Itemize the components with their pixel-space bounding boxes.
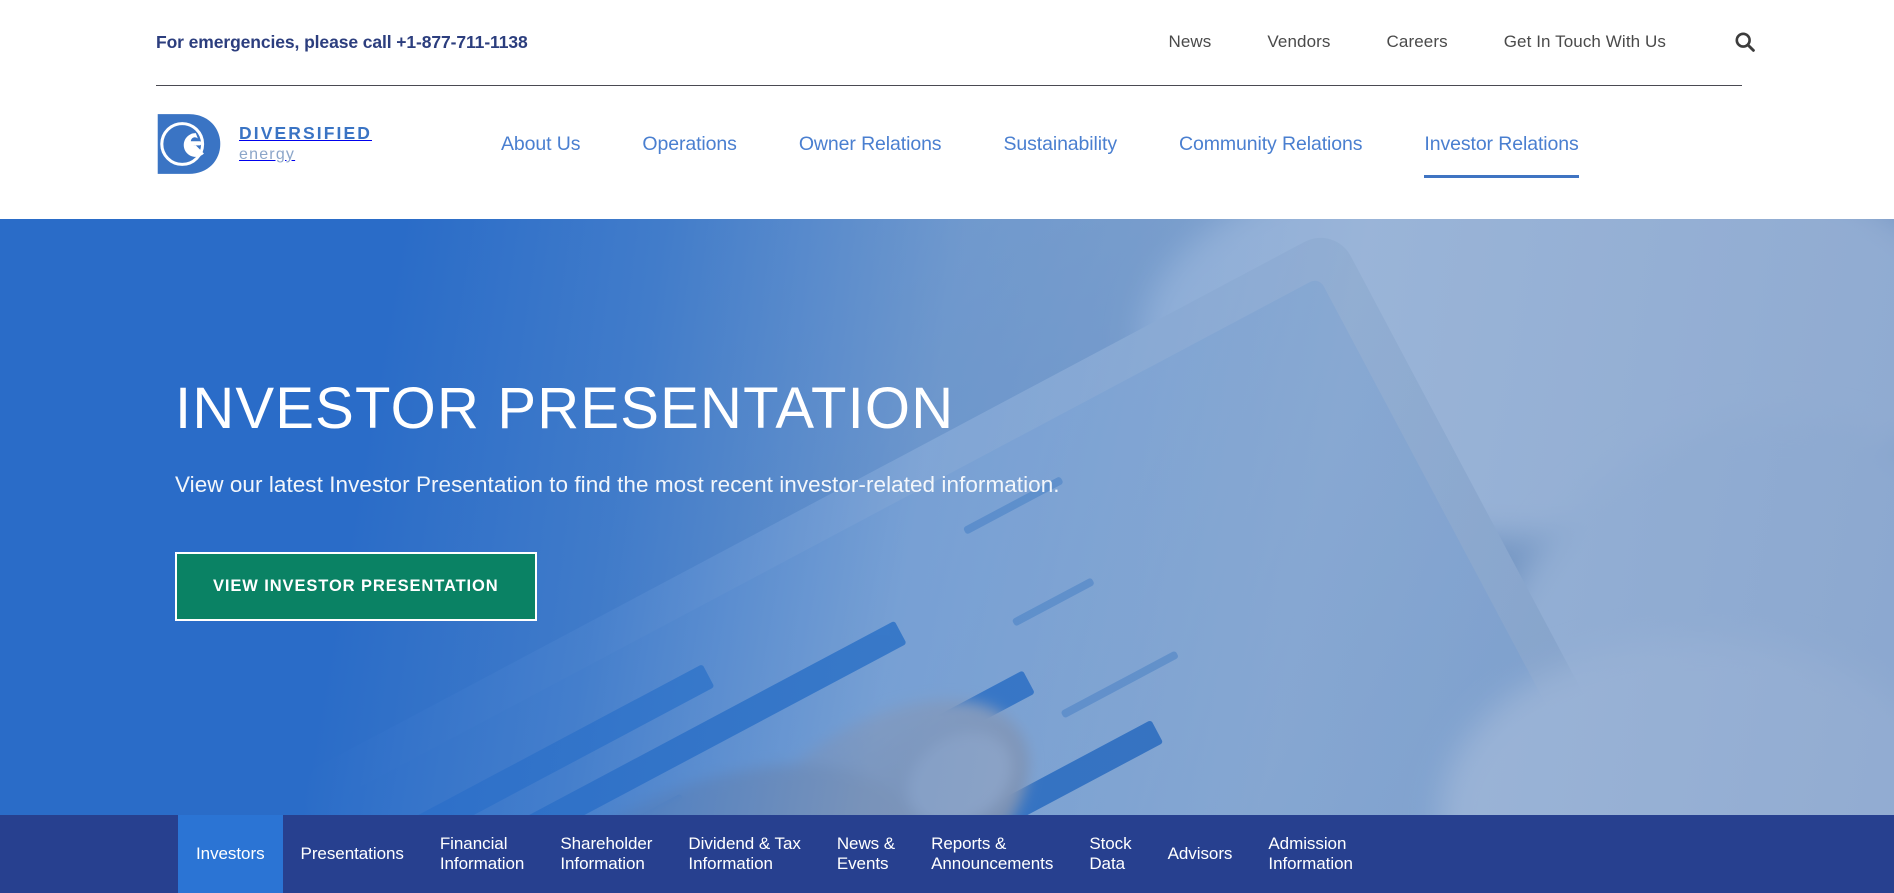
emergency-phone-text: For emergencies, please call +1-877-711-… — [156, 32, 528, 53]
utility-link-vendors[interactable]: Vendors — [1239, 32, 1358, 52]
logo-word-energy: energy — [239, 147, 372, 163]
subnav-tab-shareholder-information[interactable]: Shareholder Information — [542, 815, 670, 893]
subnav-tab-financial-information[interactable]: Financial Information — [422, 815, 543, 893]
logo-wordmark: DIVERSIFIED energy — [239, 125, 372, 163]
utility-link-news[interactable]: News — [1141, 32, 1240, 52]
investor-sub-nav: Investors Presentations Financial Inform… — [0, 815, 1894, 893]
subnav-tab-dividend-tax-information[interactable]: Dividend & Tax Information — [670, 815, 818, 893]
subnav-tab-presentations[interactable]: Presentations — [283, 815, 422, 893]
utility-nav: News Vendors Careers Get In Touch With U… — [1141, 32, 1695, 52]
logo-link[interactable]: DIVERSIFIED energy — [155, 110, 372, 178]
hero-title: INVESTOR PRESENTATION — [175, 379, 1060, 440]
subnav-left-spacer — [0, 815, 178, 893]
main-nav: About Us Operations Owner Relations Sust… — [470, 133, 1894, 156]
nav-item-owner-relations[interactable]: Owner Relations — [768, 133, 973, 156]
subnav-tab-stock-data[interactable]: Stock Data — [1071, 815, 1149, 893]
main-header: DIVERSIFIED energy About Us Operations O… — [0, 86, 1894, 219]
view-investor-presentation-button[interactable]: VIEW INVESTOR PRESENTATION — [175, 552, 537, 621]
subnav-tab-investors[interactable]: Investors — [178, 815, 283, 893]
nav-item-community-relations[interactable]: Community Relations — [1148, 133, 1393, 156]
nav-item-sustainability[interactable]: Sustainability — [972, 133, 1148, 156]
top-utility-bar: For emergencies, please call +1-877-711-… — [0, 0, 1894, 86]
hero-subtitle: View our latest Investor Presentation to… — [175, 472, 1060, 498]
nav-item-investor-relations[interactable]: Investor Relations — [1393, 133, 1609, 156]
hero-banner: INVESTOR PRESENTATION View our latest In… — [0, 219, 1894, 893]
nav-item-about-us[interactable]: About Us — [470, 133, 611, 156]
utility-link-careers[interactable]: Careers — [1359, 32, 1476, 52]
diversified-energy-logo-icon — [155, 110, 223, 178]
subnav-tab-news-events[interactable]: News & Events — [819, 815, 913, 893]
utility-link-get-in-touch[interactable]: Get In Touch With Us — [1476, 32, 1694, 52]
search-icon — [1733, 30, 1757, 54]
nav-item-operations[interactable]: Operations — [611, 133, 767, 156]
subnav-tab-reports-announcements[interactable]: Reports & Announcements — [913, 815, 1071, 893]
search-button[interactable] — [1731, 28, 1759, 56]
hero-content: INVESTOR PRESENTATION View our latest In… — [175, 379, 1060, 621]
subnav-tab-advisors[interactable]: Advisors — [1150, 815, 1251, 893]
logo-word-diversified: DIVERSIFIED — [239, 125, 372, 143]
subnav-tab-admission-information[interactable]: Admission Information — [1250, 815, 1371, 893]
